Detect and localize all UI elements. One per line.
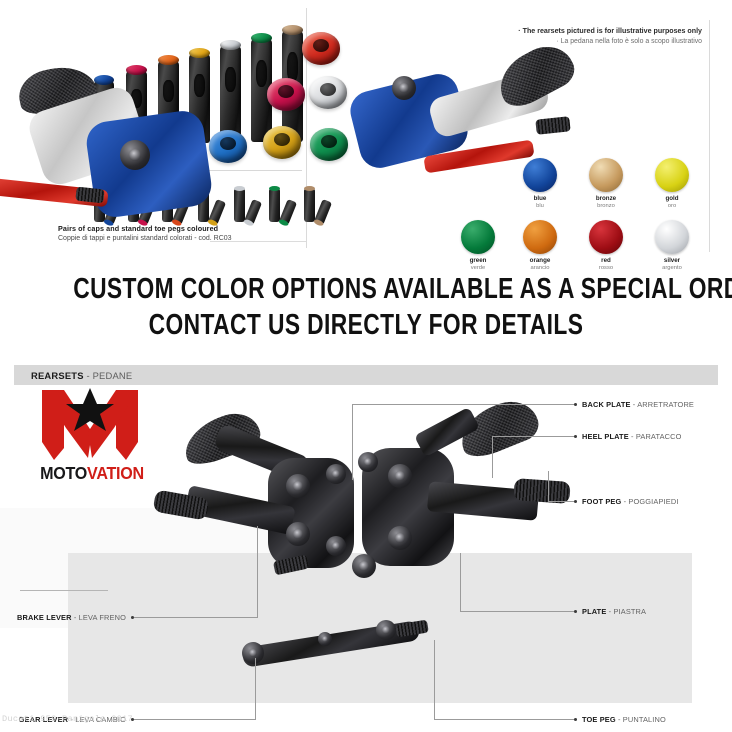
pivot-bolt-upper [286, 474, 310, 498]
lead-back-plate-v [352, 404, 353, 480]
lead-foot-peg-h [548, 501, 574, 502]
callout-plate: PLATE - PIASTRA [582, 607, 646, 616]
swatch-name-en: gold [655, 195, 689, 203]
mount-bolt-bl [352, 554, 376, 578]
rearset-right-photo [342, 414, 582, 614]
custom-color-headline: CUSTOM COLOR OPTIONS AVAILABLE AS A SPEC… [0, 262, 732, 358]
swatch-dot [523, 158, 557, 192]
lead-gear-lever-v [255, 658, 256, 720]
peg-cap [251, 33, 272, 43]
swatch-blue[interactable]: blue blu [523, 158, 557, 210]
section-title-bold: REARSETS [31, 370, 84, 381]
callout-dot [574, 610, 577, 613]
callout-label-it: - LEVA FRENO [72, 613, 126, 622]
rearsets-diagram-section: REARSETS - PEDANE MOTOVATION [0, 358, 732, 732]
caption-rule [210, 241, 306, 242]
motovation-logo[interactable]: MOTOVATION [20, 388, 160, 488]
logo-word-moto: MOTO [40, 463, 87, 483]
lead-brake-lever-h [134, 617, 258, 618]
swatch-gold[interactable]: gold oro [655, 158, 689, 210]
callout-label-it: - PARATACCO [629, 432, 682, 441]
section-title-rest: - PEDANE [84, 370, 133, 381]
callout-label-it: - PUNTALINO [616, 715, 666, 724]
callout-foot-peg: FOOT PEG - POGGIAPIEDI [582, 497, 679, 506]
callout-label-en: BRAKE LEVER [17, 613, 72, 622]
callout-label-it: - POGGIAPIEDI [621, 497, 678, 506]
swatch-bronze[interactable]: bronze bronzo [589, 158, 623, 210]
callout-dot [131, 616, 134, 619]
color-swatch-grid: blue blu bronze bronzo gold oro [523, 158, 711, 272]
rearset-colors-panel: · The rearsets pictured is for illustrat… [318, 6, 714, 252]
logo-word-vation: VATION [87, 463, 144, 483]
callout-back-plate: BACK PLATE - ARRETRATORE [582, 400, 694, 409]
section-title-bar: REARSETS - PEDANE [14, 365, 718, 385]
lead-heel-plate-h [492, 436, 574, 437]
peg-cap [282, 25, 303, 35]
callout-heel-plate: HEEL PLATE - PARATACCO [582, 432, 682, 441]
swatch-dot [655, 220, 689, 254]
callout-label-it: - ARRETRATORE [631, 400, 694, 409]
swatch-name-en: bronze [589, 195, 623, 203]
lead-foot-peg-v [548, 471, 549, 502]
callout-dot [574, 435, 577, 438]
lead-gear-lever-h [134, 719, 256, 720]
logo-svg [40, 388, 140, 462]
left-decorative-rule [20, 590, 108, 591]
lead-heel-plate-v [492, 436, 493, 478]
callout-label-en: PLATE [582, 607, 606, 616]
swatch-dot [589, 220, 623, 254]
catalog-page: Pairs of caps and standard toe pegs colo… [0, 0, 732, 732]
callout-label-en: HEEL PLATE [582, 432, 629, 441]
lead-plate-v [460, 553, 461, 612]
callout-brake-lever: BRAKE LEVER - LEVA FRENO [0, 613, 126, 622]
pivot-bolt-lower [388, 526, 412, 550]
lever-pivot-left [242, 642, 264, 664]
lead-plate-h [460, 611, 574, 612]
peg-cap [220, 40, 241, 50]
swatch-name-it: oro [655, 203, 689, 210]
lever-bolt-mid [318, 632, 332, 646]
foot-peg [535, 116, 570, 134]
headline-line-2: CONTACT US DIRECTLY FOR DETAILS [73, 304, 659, 340]
logo-wordmark: MOTOVATION [35, 464, 149, 483]
lever-pivot-right [376, 620, 396, 640]
swatch-dot [589, 158, 623, 192]
headline-line-1: CUSTOM COLOR OPTIONS AVAILABLE AS A SPEC… [73, 262, 659, 304]
swatch-name-it: bronzo [589, 203, 623, 210]
pivot-bolt-lower [286, 522, 310, 546]
lead-brake-lever-v [257, 526, 258, 618]
callout-label-en: TOE PEG [582, 715, 616, 724]
lead-toe-peg-h [434, 719, 574, 720]
logo-m-mark-icon [40, 388, 140, 462]
callout-toe-peg: TOE PEG - PUNTALINO [582, 715, 666, 724]
callout-label-it: - PIASTRA [606, 607, 646, 616]
plate-bolt [120, 140, 150, 170]
swatch-dot [461, 220, 495, 254]
rearset-photo-silver-red [0, 56, 298, 236]
top-catalog-section: Pairs of caps and standard toe pegs colo… [0, 0, 732, 262]
gear-lever-photo [228, 620, 438, 670]
swatch-dot [523, 220, 557, 254]
callout-label-en: FOOT PEG [582, 497, 621, 506]
lead-back-plate-h [352, 404, 574, 405]
callout-label-en: BACK PLATE [582, 400, 631, 409]
footer-model-caption: Ducati 959-Panigale 2017 [2, 714, 133, 724]
disclaimer-it: · La pedana nella foto è solo a scopo il… [518, 37, 702, 48]
disclaimer-en: · The rearsets pictured is for illustrat… [518, 26, 702, 37]
swatch-row-1: blue blu bronze bronzo gold oro [523, 158, 711, 210]
illustrative-disclaimer: · The rearsets pictured is for illustrat… [518, 26, 702, 47]
lead-toe-peg-v [434, 640, 435, 720]
plate-bolt [392, 76, 416, 100]
callout-dot [574, 403, 577, 406]
section-title: REARSETS - PEDANE [31, 370, 132, 381]
swatch-name-en: blue [523, 195, 557, 203]
foot-peg [75, 187, 104, 204]
swatch-name-it: blu [523, 203, 557, 210]
pair-peg [304, 188, 315, 222]
callout-dot [574, 718, 577, 721]
pivot-bolt-upper [388, 464, 412, 488]
swatch-dot [655, 158, 689, 192]
callout-dot [574, 500, 577, 503]
mount-bolt-tl [358, 452, 378, 472]
